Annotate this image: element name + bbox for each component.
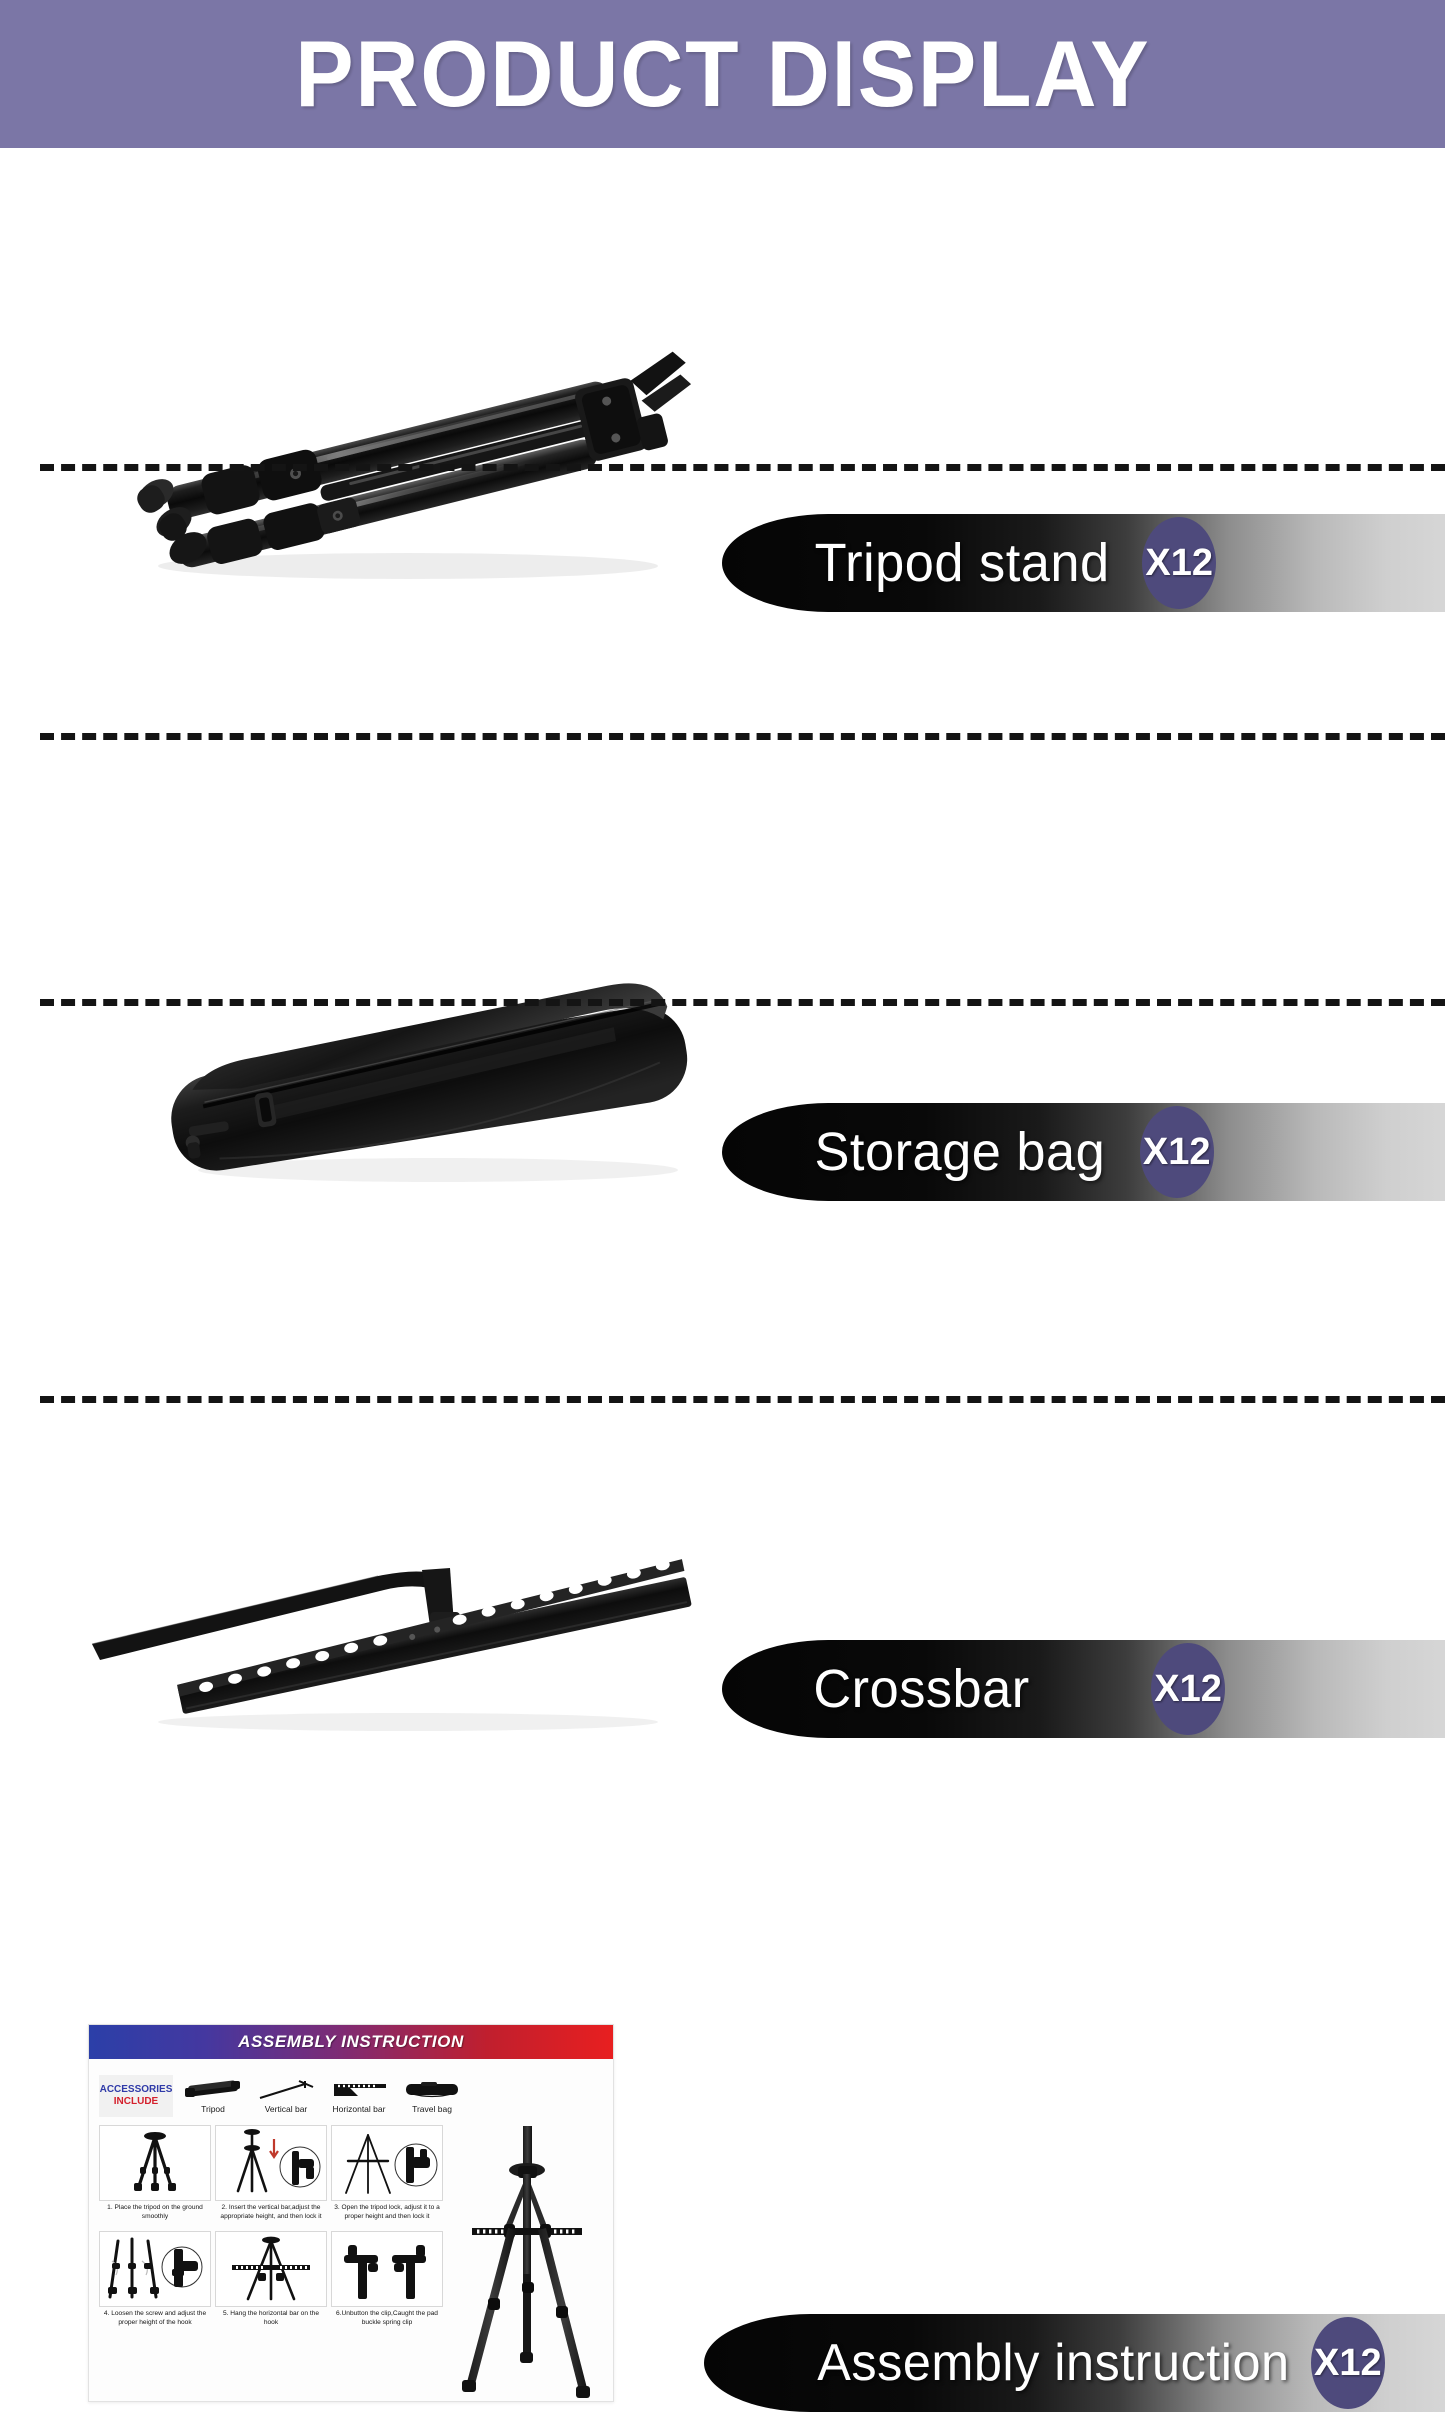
poster-title: ASSEMBLY INSTRUCTION xyxy=(238,2032,464,2052)
step-illustration xyxy=(99,2231,211,2307)
product-row-storage-bag: Storage bag X12 xyxy=(0,470,1445,740)
step-illustration xyxy=(331,2231,443,2307)
accessories-include-chip: ACCESSORIES INCLUDE xyxy=(99,2075,173,2117)
page-title: PRODUCT DISPLAY xyxy=(295,27,1150,121)
product-label-text: Crossbar xyxy=(813,1658,1029,1720)
product-label-banner-assembly-instruction: Assembly instruction X12 xyxy=(704,2314,1445,2412)
accessories-chip-line1: ACCESSORIES xyxy=(100,2084,173,2097)
product-row-crossbar: Crossbar X12 xyxy=(0,740,1445,1006)
tripod-folded-icon xyxy=(180,2078,246,2102)
travel-bag-icon xyxy=(399,2078,465,2102)
poster-body: ACCESSORIES INCLUDE Tripod xyxy=(89,2059,613,2333)
accessories-chip-line2: INCLUDE xyxy=(114,2096,158,2109)
step-illustration xyxy=(331,2125,443,2201)
step-caption: 2. Insert the vertical bar,adjust the ap… xyxy=(215,2201,327,2227)
accessory-vertical-bar: Vertical bar xyxy=(253,2078,319,2114)
product-label-banner-crossbar: Crossbar X12 xyxy=(722,1640,1445,1738)
assembly-steps-grid: 1. Place the tripod on the ground smooth… xyxy=(99,2125,447,2333)
quantity-badge: X12 xyxy=(1311,2317,1385,2409)
page-header: PRODUCT DISPLAY xyxy=(0,0,1445,148)
assembly-step-3: 3. Open the tripod lock, adjust it to a … xyxy=(331,2125,443,2227)
step-illustration xyxy=(215,2125,327,2201)
product-row-assembly-instruction: ASSEMBLY INSTRUCTION ACCESSORIES INCLUDE xyxy=(0,1006,1445,1404)
step-caption: 6.Unbutton the clip,Caught the pad buckl… xyxy=(331,2307,443,2333)
accessory-horizontal-bar: Horizontal bar xyxy=(326,2078,392,2114)
product-row-tripod-stand: Tripod stand X12 xyxy=(0,148,1445,470)
step-illustration xyxy=(99,2125,211,2201)
vertical-bar-icon xyxy=(253,2078,319,2102)
accessory-label: Tripod xyxy=(180,2104,246,2114)
crossbar-image xyxy=(78,1526,718,1734)
step-caption: 1. Place the tripod on the ground smooth… xyxy=(99,2201,211,2227)
step-caption: 3. Open the tripod lock, adjust it to a … xyxy=(331,2201,443,2227)
step-caption: 5. Hang the horizontal bar on the hook xyxy=(215,2307,327,2333)
assembly-step-5: 5. Hang the horizontal bar on the hook xyxy=(215,2231,327,2333)
accessory-label: Vertical bar xyxy=(253,2104,319,2114)
finished-easel-illustration xyxy=(452,2124,602,2402)
step-caption: 4. Loosen the screw and adjust the prope… xyxy=(99,2307,211,2333)
quantity-badge: X12 xyxy=(1151,1643,1225,1735)
assembly-step-4: 4. Loosen the screw and adjust the prope… xyxy=(99,2231,211,2333)
finished-easel: 7. Finished xyxy=(447,2105,607,2402)
divider-3 xyxy=(40,999,1445,1006)
assembly-instruction-poster: ASSEMBLY INSTRUCTION ACCESSORIES INCLUDE xyxy=(88,2024,614,2402)
horizontal-bar-icon xyxy=(326,2078,392,2102)
accessory-label: Horizontal bar xyxy=(326,2104,392,2114)
accessory-tripod: Tripod xyxy=(180,2078,246,2114)
assembly-step-2: 2. Insert the vertical bar,adjust the ap… xyxy=(215,2125,327,2227)
step-illustration xyxy=(215,2231,327,2307)
divider-4 xyxy=(40,1396,1445,1403)
assembly-step-1: 1. Place the tripod on the ground smooth… xyxy=(99,2125,211,2227)
assembly-step-6: 6.Unbutton the clip,Caught the pad buckl… xyxy=(331,2231,443,2333)
poster-header: ASSEMBLY INSTRUCTION xyxy=(89,2025,613,2059)
product-label-text: Assembly instruction xyxy=(817,2333,1289,2393)
divider-2 xyxy=(40,733,1445,740)
